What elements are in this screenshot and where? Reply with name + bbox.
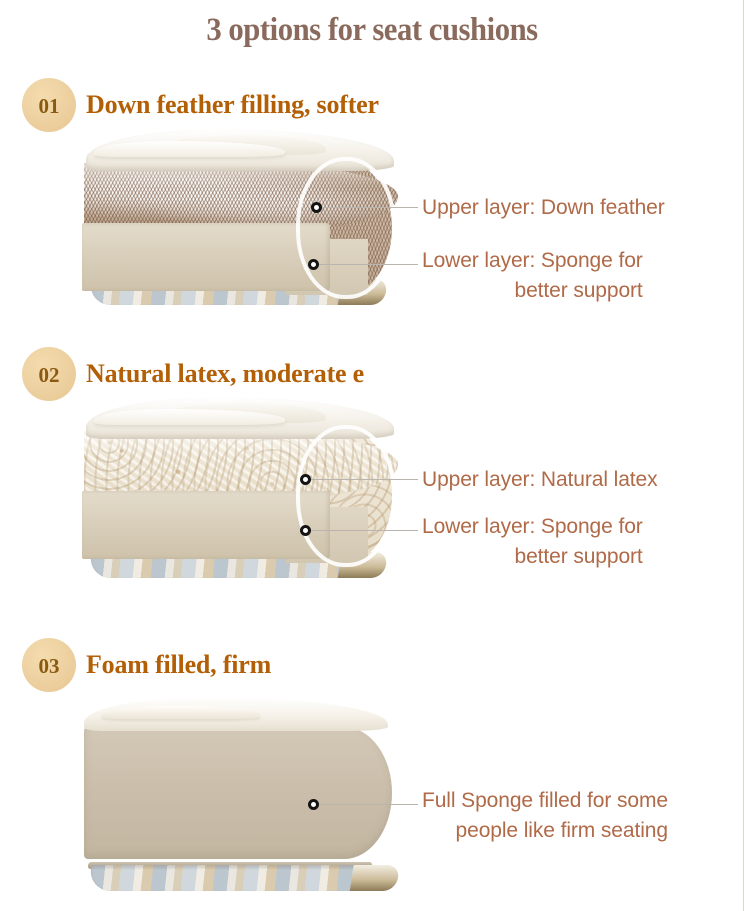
upper-layer-latex xyxy=(84,431,398,497)
option-heading-03: Foam filled, firm xyxy=(86,650,271,680)
cushion-illustration xyxy=(82,693,412,893)
upper-layer-feather xyxy=(84,163,398,229)
callout-upper-01: Upper layer: Down feather xyxy=(422,193,665,223)
callout-dot-upper-01 xyxy=(311,202,322,213)
striped-fabric-base xyxy=(89,865,369,891)
product-detail-page: 3 options for seat cushions 01 Down feat… xyxy=(0,0,744,911)
cushion-photo-03 xyxy=(82,693,412,893)
outer-cover xyxy=(84,697,388,731)
fabric-tail xyxy=(350,865,401,891)
callout-lower-01-line1: Lower layer: Sponge for xyxy=(422,249,643,272)
upper-layer-highlight xyxy=(84,163,398,229)
cushion-photo-01 xyxy=(82,127,400,307)
callout-lower-02: Lower layer: Sponge for better support xyxy=(422,512,643,572)
cushion-photo-02 xyxy=(82,395,400,580)
cushion-illustration xyxy=(82,395,400,580)
outer-cover xyxy=(86,397,394,439)
full-foam-block xyxy=(84,727,392,859)
callout-lower-02-line2: better support xyxy=(422,542,643,572)
callout-leader-lower-01 xyxy=(317,264,418,265)
callout-foam-03-line2: people like firm seating xyxy=(422,816,668,846)
callout-upper-02-line1: Upper layer: Natural latex xyxy=(422,468,658,491)
lower-layer-sponge xyxy=(82,223,330,291)
callout-dot-lower-02 xyxy=(300,525,311,536)
upper-layer-highlight xyxy=(84,431,398,497)
option-number-badge-02: 02 xyxy=(22,347,76,401)
cover-fold-front xyxy=(102,706,260,719)
option-heading-02: Natural latex, moderate e xyxy=(86,359,398,389)
callout-upper-01-line1: Upper layer: Down feather xyxy=(422,196,665,219)
callout-leader-upper-01 xyxy=(320,207,418,208)
option-number-03: 03 xyxy=(39,654,60,679)
page-title: 3 options for seat cushions xyxy=(26,12,718,49)
option-number-badge-01: 01 xyxy=(22,78,76,132)
cushion-illustration xyxy=(82,127,400,307)
lower-layer-sponge xyxy=(82,491,330,559)
callout-lower-02-line1: Lower layer: Sponge for xyxy=(422,515,643,538)
callout-leader-foam-03 xyxy=(317,804,418,805)
outer-cover xyxy=(86,129,394,171)
callout-dot-foam-03 xyxy=(308,799,319,810)
callout-upper-02: Upper layer: Natural latex xyxy=(422,465,658,495)
option-number-02: 02 xyxy=(39,363,60,388)
callout-foam-03-line1: Full Sponge filled for some xyxy=(422,789,668,812)
option-number-badge-03: 03 xyxy=(22,638,76,692)
callout-leader-upper-02 xyxy=(309,479,418,480)
callout-dot-lower-01 xyxy=(308,259,319,270)
callout-leader-lower-02 xyxy=(309,530,418,531)
callout-dot-upper-02 xyxy=(300,474,311,485)
option-number-01: 01 xyxy=(39,94,60,119)
callout-lower-01-line2: better support xyxy=(422,276,643,306)
option-heading-01: Down feather filling, softer xyxy=(86,90,379,120)
callout-lower-01: Lower layer: Sponge for better support xyxy=(422,246,643,306)
callout-foam-03: Full Sponge filled for some people like … xyxy=(422,786,668,846)
